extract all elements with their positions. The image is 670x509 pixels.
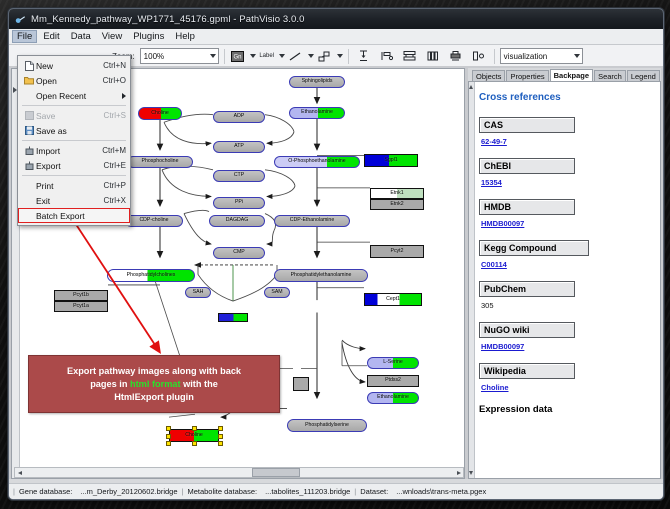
backpage-content: Cross references CAS 62-49-7 ChEBI 15354… xyxy=(469,82,660,415)
menu-item-print[interactable]: Print Ctrl+P xyxy=(18,178,130,193)
status-gene-db-value: ...m_Derby_20120602.bridge xyxy=(76,487,181,496)
menu-item-export[interactable]: Export Ctrl+E xyxy=(18,158,130,173)
menu-item-exit[interactable]: Exit Ctrl+X xyxy=(18,193,130,208)
xref-value-nugo[interactable]: HMDB00097 xyxy=(481,342,650,351)
save-icon xyxy=(22,111,36,120)
chevron-down-icon-2 xyxy=(574,54,580,58)
menu-file[interactable]: File xyxy=(12,30,37,43)
xref-value-hmdb[interactable]: HMDB00097 xyxy=(481,219,650,228)
file-menu-popup[interactable]: New Ctrl+N Open Ctrl+O Open Recent xyxy=(17,55,131,226)
new-document-icon xyxy=(22,61,36,71)
window-title: Mm_Kennedy_pathway_WP1771_45176.gpml - P… xyxy=(31,14,305,25)
same-width-button[interactable] xyxy=(423,48,443,64)
export-icon xyxy=(22,161,36,170)
import-icon xyxy=(22,146,36,155)
xref-value-chebi[interactable]: 15354 xyxy=(481,178,650,187)
menu-item-open[interactable]: Open Ctrl+O xyxy=(18,73,130,88)
status-gene-db-label: Gene database: xyxy=(15,487,76,496)
menu-item-save-as[interactable]: Save as xyxy=(18,123,130,138)
menu-edit[interactable]: Edit xyxy=(38,30,64,43)
svg-text:Gn: Gn xyxy=(234,54,242,60)
xref-header-wikipedia: Wikipedia xyxy=(479,363,575,379)
application-window: Mm_Kennedy_pathway_WP1771_45176.gpml - P… xyxy=(8,8,664,500)
group-button[interactable] xyxy=(469,48,489,64)
xref-value-pubchem: 305 xyxy=(481,301,650,310)
open-folder-icon xyxy=(22,76,36,85)
xref-header-cas: CAS xyxy=(479,117,575,133)
dock-vscrollbar[interactable] xyxy=(468,82,475,478)
menu-plugins[interactable]: Plugins xyxy=(128,30,169,43)
title-bar: Mm_Kennedy_pathway_WP1771_45176.gpml - P… xyxy=(9,9,663,29)
label-dropdown-icon[interactable] xyxy=(279,54,285,58)
save-as-icon xyxy=(22,126,36,135)
pathvisio-app-icon xyxy=(15,14,26,25)
submenu-arrow-icon xyxy=(122,93,126,99)
screenshot-root: Mm_Kennedy_pathway_WP1771_45176.gpml - P… xyxy=(0,0,670,509)
backpage-pane: Cross references CAS 62-49-7 ChEBI 15354… xyxy=(468,81,661,479)
menu-separator-2 xyxy=(22,140,126,141)
data-node-tool-button[interactable]: Gn xyxy=(230,48,246,64)
status-metabolite-db-value: ...tabolites_111203.bridge xyxy=(261,487,354,496)
zoom-value: 100% xyxy=(144,52,164,61)
scroll-down-icon[interactable] xyxy=(469,471,473,475)
toolbar-separator-2 xyxy=(348,49,349,64)
visualization-value: visualization xyxy=(504,52,548,61)
xref-header-chebi: ChEBI xyxy=(479,158,575,174)
status-dataset-value: ...wnloads\trans-meta.pgex xyxy=(392,487,490,496)
side-dock: Objects Properties Backpage Search Legen… xyxy=(468,68,661,479)
shape-dropdown-icon[interactable] xyxy=(337,54,343,58)
status-dataset-label: Dataset: xyxy=(356,487,392,496)
menu-item-import[interactable]: Import Ctrl+M xyxy=(18,143,130,158)
align-left-button[interactable] xyxy=(377,48,397,64)
xref-header-kegg: Kegg Compound xyxy=(479,240,589,256)
menu-item-new[interactable]: New Ctrl+N xyxy=(18,58,130,73)
menu-view[interactable]: View xyxy=(97,30,127,43)
shape-tool-button[interactable] xyxy=(317,48,333,64)
menu-item-batch-export[interactable]: Batch Export xyxy=(18,208,130,223)
toolbar-separator xyxy=(224,49,225,64)
toolbar-separator-3 xyxy=(494,49,495,64)
xref-header-nugo: NuGO wiki xyxy=(479,322,575,338)
print-preview-button[interactable] xyxy=(446,48,466,64)
dock-tabs[interactable]: Objects Properties Backpage Search Legen… xyxy=(468,68,661,82)
xref-header-pubchem: PubChem xyxy=(479,281,575,297)
menu-separator-3 xyxy=(22,175,126,176)
xref-header-hmdb: HMDB xyxy=(479,199,575,215)
line-dropdown-icon[interactable] xyxy=(308,54,314,58)
data-node-dropdown-icon[interactable] xyxy=(250,54,256,58)
expression-data-title: Expression data xyxy=(479,404,650,415)
visualization-combo[interactable]: visualization xyxy=(500,48,583,64)
cross-references-title: Cross references xyxy=(479,92,650,103)
menu-help[interactable]: Help xyxy=(170,30,200,43)
line-tool-button[interactable] xyxy=(288,48,304,64)
align-top-button[interactable] xyxy=(354,48,374,64)
menu-bar[interactable]: File Edit Data View Plugins Help xyxy=(9,29,663,45)
menu-item-save: Save Ctrl+S xyxy=(18,108,130,123)
menu-item-open-recent[interactable]: Open Recent xyxy=(18,88,130,103)
status-bar: | Gene database: ...m_Derby_20120602.bri… xyxy=(9,483,663,499)
xref-value-wikipedia[interactable]: Choline xyxy=(481,383,650,392)
menu-separator-1 xyxy=(22,105,126,106)
xref-value-kegg[interactable]: C00114 xyxy=(481,260,650,269)
status-metabolite-db-label: Metabolite database: xyxy=(183,487,261,496)
scroll-up-icon[interactable] xyxy=(469,85,473,89)
distribute-button[interactable] xyxy=(400,48,420,64)
chevron-down-icon xyxy=(210,54,216,58)
menu-data[interactable]: Data xyxy=(66,30,96,43)
label-tool-button[interactable]: Label xyxy=(259,48,275,64)
xref-value-cas[interactable]: 62-49-7 xyxy=(481,137,650,146)
zoom-combo[interactable]: 100% xyxy=(140,48,219,64)
